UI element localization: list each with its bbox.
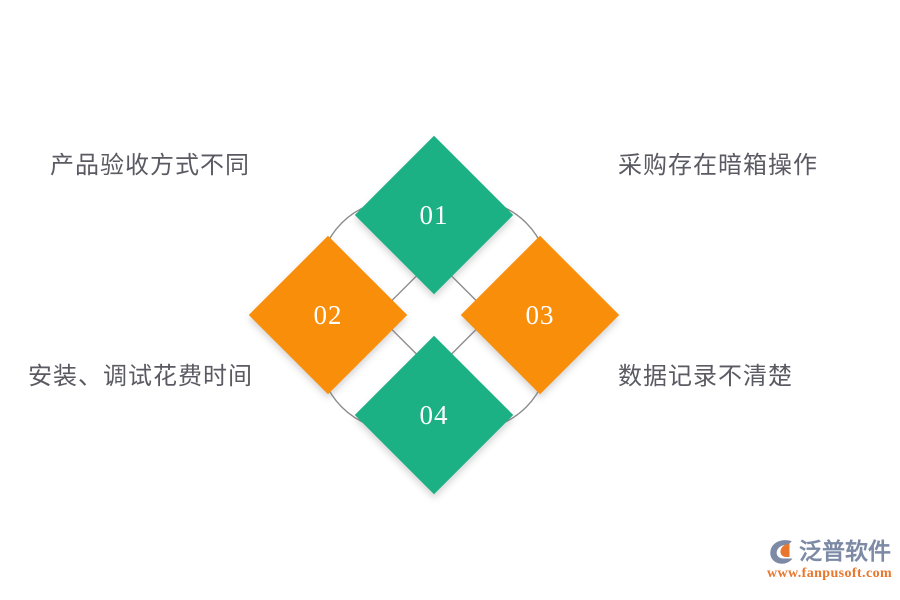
logo-url: www.fanpusoft.com [767,566,892,582]
logo-name: 泛普软件 [799,536,891,566]
node-number-02: 02 [314,302,343,329]
node-diamond-04[interactable]: 04 [355,336,513,494]
logo-row: 泛普软件 [767,535,892,567]
label-bottom-left: 安装、调试花费时间 [28,363,253,392]
node-number-01: 01 [420,202,449,229]
connector-lines [0,0,900,600]
node-number-03: 03 [526,302,555,329]
node-diamond-01[interactable]: 01 [355,136,513,294]
diagram-canvas: 01 02 03 04 产品验收方式不同 采购存在暗箱操作 安装、调试花费时间 … [0,0,900,600]
label-bottom-right: 数据记录不清楚 [618,363,793,392]
brand-logo: 泛普软件 www.fanpusoft.com [767,535,892,587]
fanpu-swoosh-icon [767,536,797,566]
node-diamond-03[interactable]: 03 [461,236,619,394]
node-diamond-02[interactable]: 02 [249,236,407,394]
label-top-right: 采购存在暗箱操作 [618,152,818,181]
node-number-04: 04 [420,402,449,429]
label-top-left: 产品验收方式不同 [50,152,250,181]
